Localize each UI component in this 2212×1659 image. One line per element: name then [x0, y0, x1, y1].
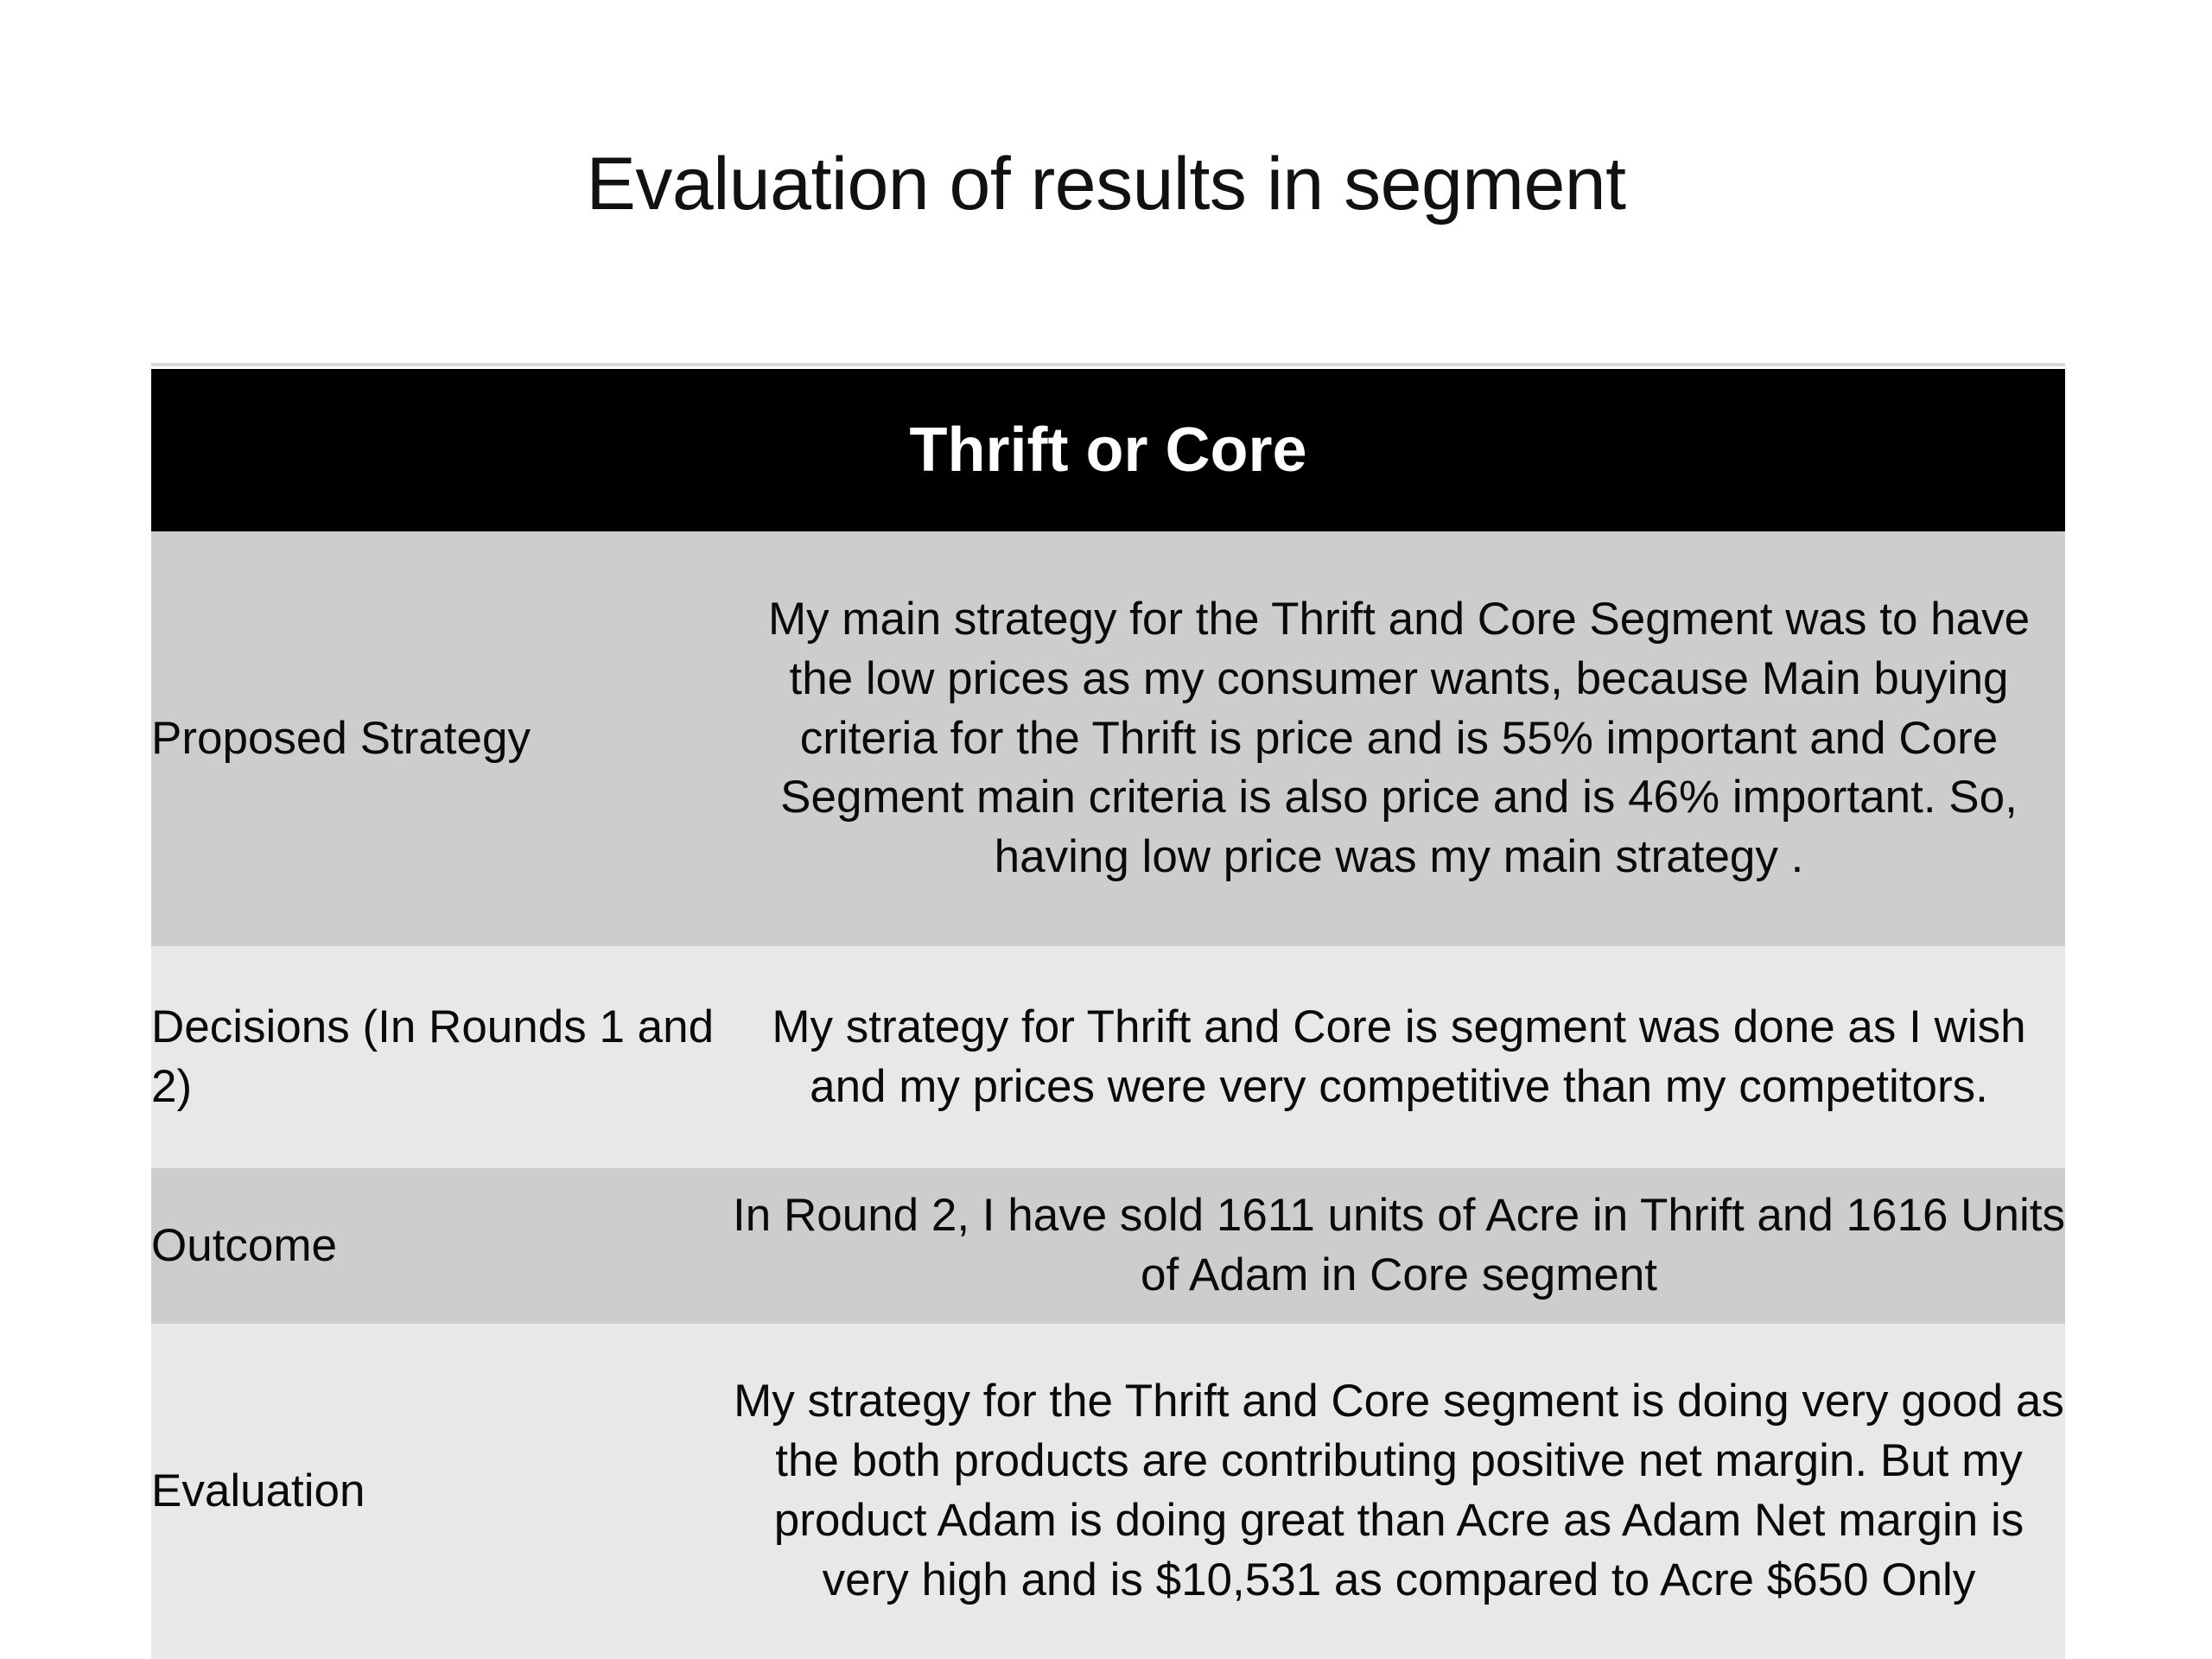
table-top-rule [151, 363, 2065, 366]
page-title: Evaluation of results in segment [0, 145, 2212, 223]
row-label-cell: Decisions (In Rounds 1 and 2) [151, 946, 733, 1168]
row-label-cell: Proposed Strategy [151, 531, 733, 946]
evaluation-table: Thrift or Core Proposed Strategy My main… [151, 369, 2065, 1659]
slide-canvas: Evaluation of results in segment Thrift … [0, 0, 2212, 1659]
row-label-evaluation: Evaluation [151, 1462, 733, 1522]
table-header-title: Thrift or Core [151, 369, 2065, 531]
row-label-decisions: Decisions (In Rounds 1 and 2) [151, 998, 733, 1117]
row-label-cell: Outcome [151, 1168, 733, 1324]
row-label-cell: Evaluation [151, 1324, 733, 1659]
row-body-outcome: In Round 2, I have sold 1611 units of Ac… [733, 1186, 2065, 1306]
table-header-row: Thrift or Core [151, 369, 2065, 531]
row-body-cell: My strategy for Thrift and Core is segme… [733, 946, 2065, 1168]
row-body-proposed-strategy: My main strategy for the Thrift and Core… [733, 590, 2065, 887]
row-body-cell: My main strategy for the Thrift and Core… [733, 531, 2065, 946]
table-row: Proposed Strategy My main strategy for t… [151, 531, 2065, 946]
row-label-outcome: Outcome [151, 1217, 733, 1276]
table-row: Decisions (In Rounds 1 and 2) My strateg… [151, 946, 2065, 1168]
row-body-evaluation: My strategy for the Thrift and Core segm… [733, 1372, 2065, 1611]
row-body-cell: My strategy for the Thrift and Core segm… [733, 1324, 2065, 1659]
table-row: Outcome In Round 2, I have sold 1611 uni… [151, 1168, 2065, 1324]
table-row: Evaluation My strategy for the Thrift an… [151, 1324, 2065, 1659]
row-body-cell: In Round 2, I have sold 1611 units of Ac… [733, 1168, 2065, 1324]
row-label-proposed-strategy: Proposed Strategy [151, 709, 733, 769]
row-body-decisions: My strategy for Thrift and Core is segme… [733, 998, 2065, 1117]
